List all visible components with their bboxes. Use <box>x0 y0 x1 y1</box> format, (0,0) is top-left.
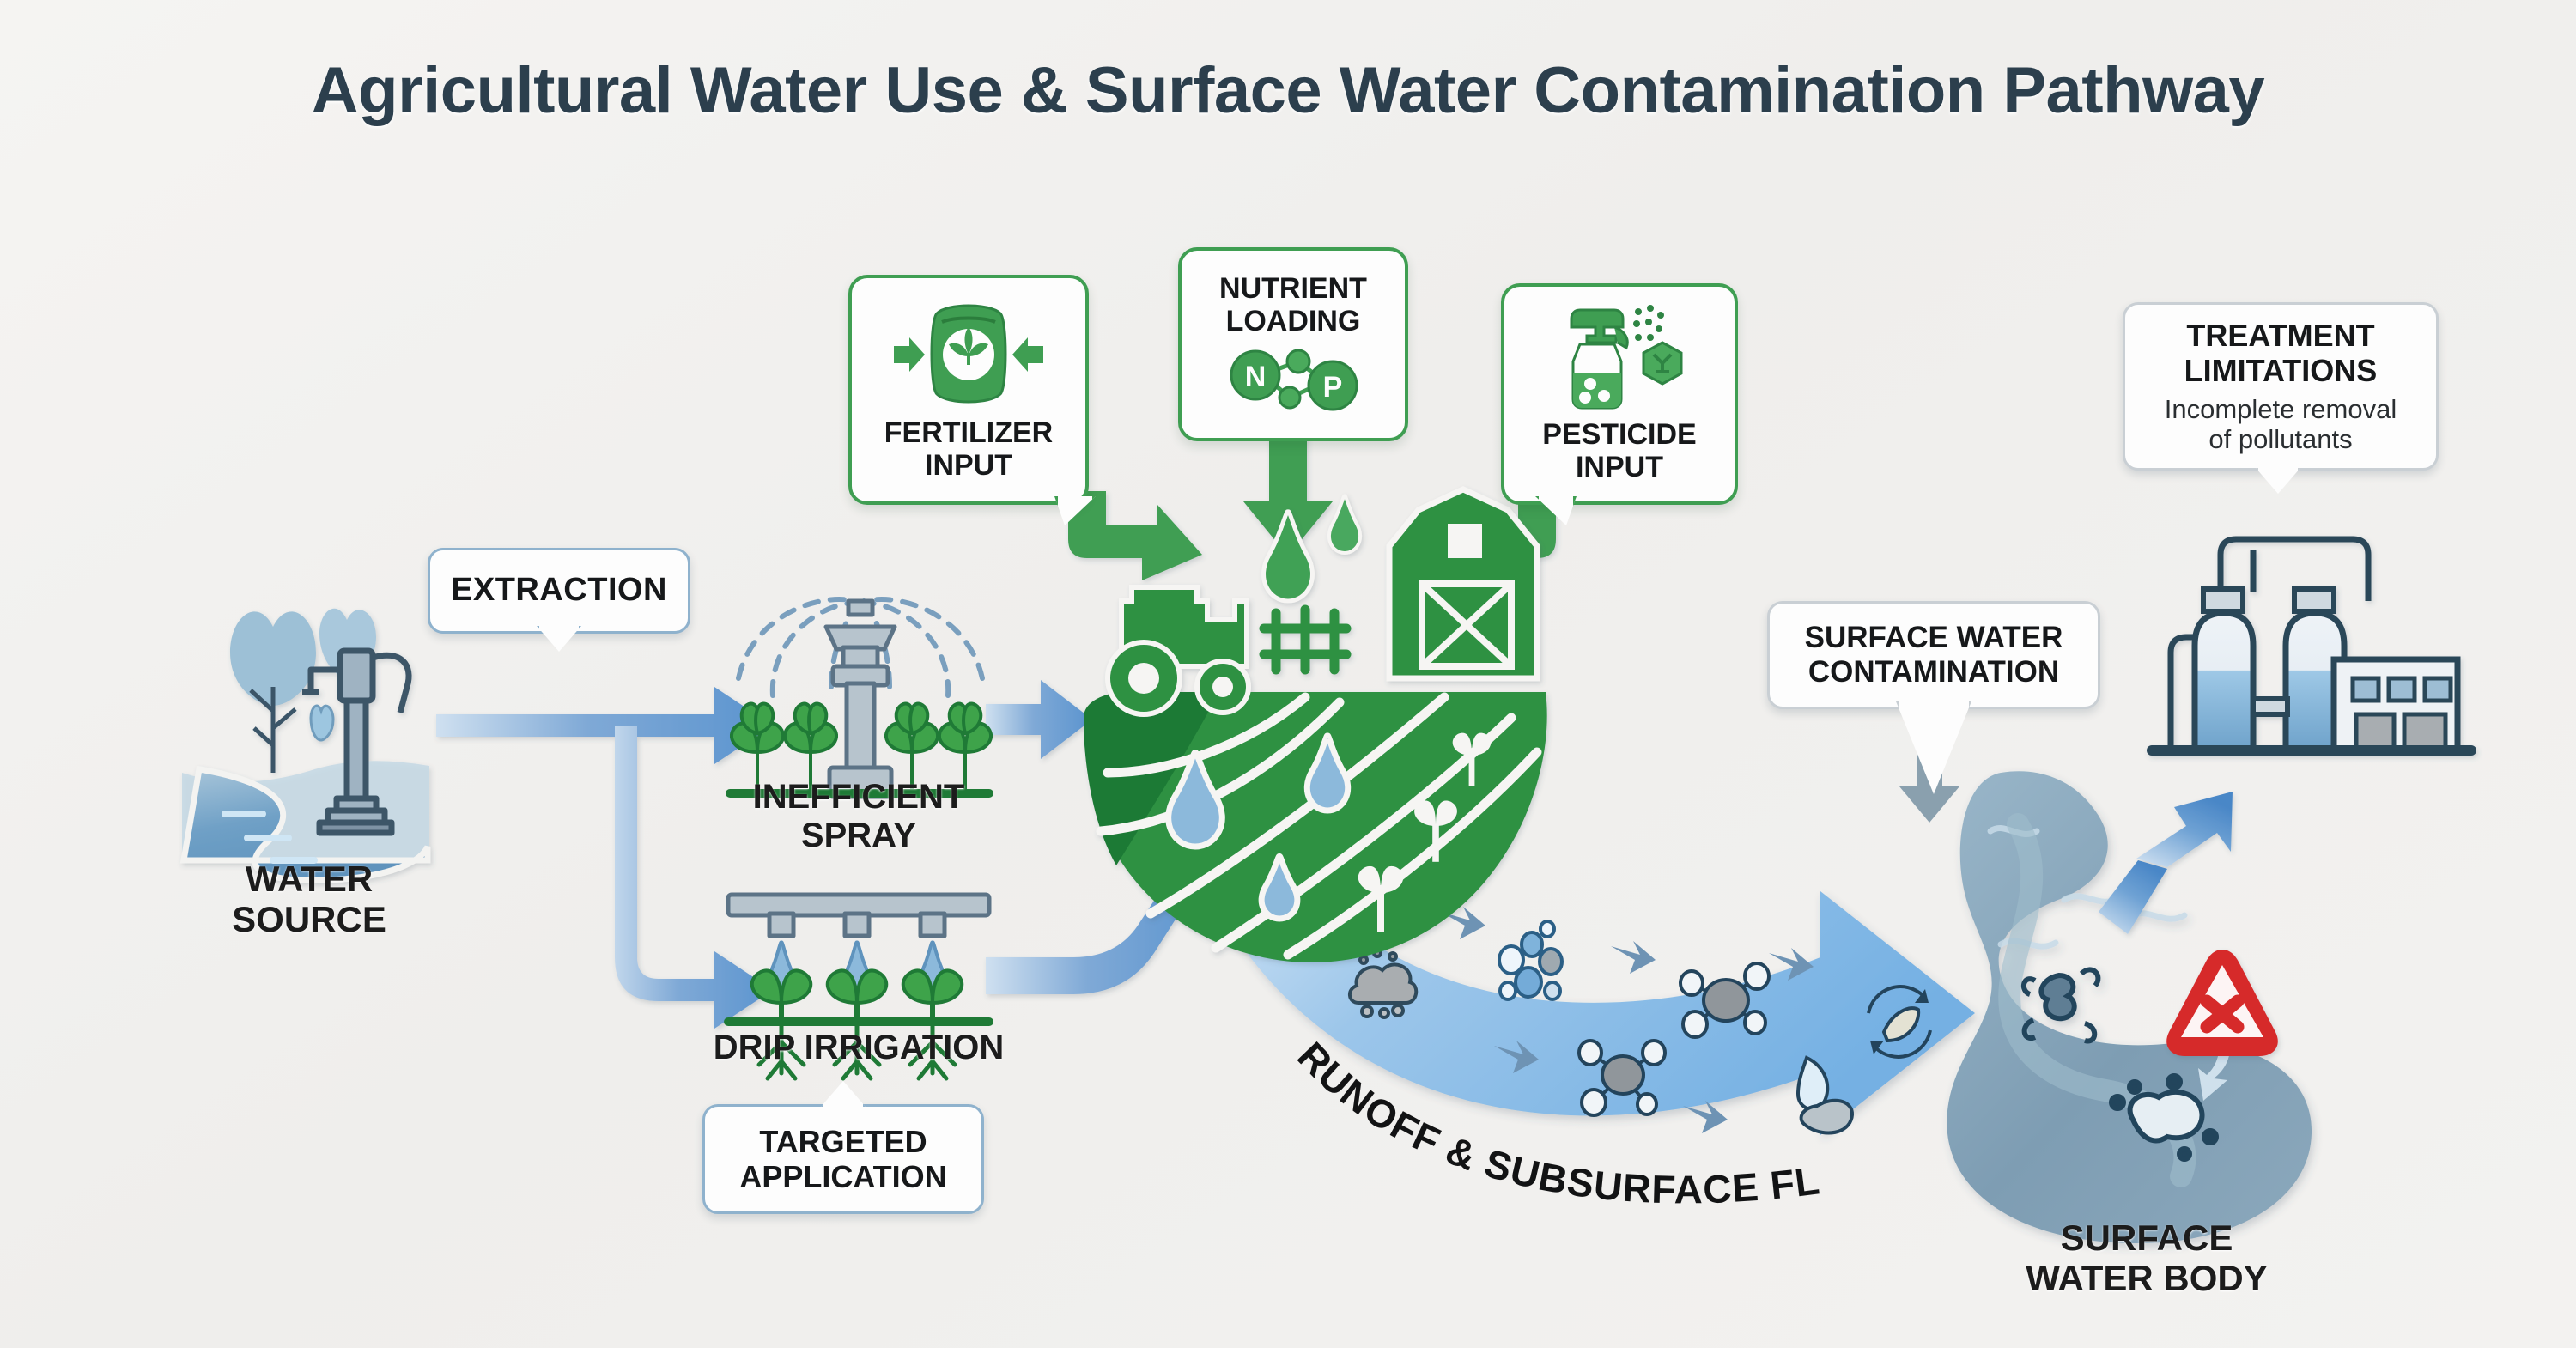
pesticide-input-box[interactable]: PESTICIDE INPUT <box>1501 283 1738 505</box>
inefficient-spray-label: INEFFICIENT SPRAY <box>713 778 1005 855</box>
fertilizer-bag-icon <box>887 298 1050 410</box>
fertilizer-input-label: FERTILIZER INPUT <box>884 416 1053 482</box>
surface-water-body-label: SURFACE WATER BODY <box>1966 1217 2327 1298</box>
surface-water-contamination-callout-label: SURFACE WATER CONTAMINATION <box>1767 601 2100 709</box>
np-molecule-icon: N P <box>1216 343 1370 416</box>
waterbody-to-treatment-arrow <box>2099 792 2233 934</box>
infographic-canvas: Agricultural Water Use & Surface Water C… <box>0 0 2576 1348</box>
sprinkler-plants-icon <box>730 599 991 797</box>
extraction-callout[interactable]: EXTRACTION <box>428 548 685 628</box>
water-source-label: WATER SOURCE <box>129 859 489 939</box>
spray-to-farm-arrow <box>986 680 1092 759</box>
fertilizer-input-box[interactable]: FERTILIZER INPUT <box>848 275 1089 505</box>
targeted-application-callout[interactable]: TARGETED APPLICATION <box>702 1104 979 1209</box>
treatment-limitations-subtitle: Incomplete removal of pollutants <box>2165 394 2397 455</box>
molecule-letter-n: N <box>1245 361 1267 393</box>
nutrient-loading-input-box[interactable]: NUTRIENT LOADING N P <box>1178 247 1408 441</box>
water-treatment-plant-icon <box>2152 539 2471 750</box>
pesticide-spray-bottle-icon <box>1542 305 1697 413</box>
extraction-callout-label: EXTRACTION <box>428 548 690 634</box>
extraction-branch-arrow <box>436 687 773 1029</box>
treatment-limitations-callout[interactable]: TREATMENT LIMITATIONS Incomplete removal… <box>2123 302 2439 471</box>
targeted-application-callout-label: TARGETED APPLICATION <box>702 1104 984 1214</box>
surface-water-contamination-callout[interactable]: SURFACE WATER CONTAMINATION <box>1767 601 2095 704</box>
warning-triangle-x-icon <box>2166 950 2278 1056</box>
nutrient-loading-label: NUTRIENT LOADING <box>1219 272 1367 337</box>
pesticide-input-label: PESTICIDE INPUT <box>1542 418 1696 483</box>
fertilizer-to-farm-arrow <box>1068 491 1202 580</box>
flow-arrows-layer: RUNOFF & SUBSURFACE FLOW <box>0 0 2576 1348</box>
molecule-letter-p: P <box>1323 371 1343 404</box>
water-source-icon <box>182 609 433 887</box>
treatment-limitations-title: TREATMENT LIMITATIONS <box>2184 318 2378 389</box>
drip-irrigation-label: DRIP IRRIGATION <box>678 1029 1039 1067</box>
